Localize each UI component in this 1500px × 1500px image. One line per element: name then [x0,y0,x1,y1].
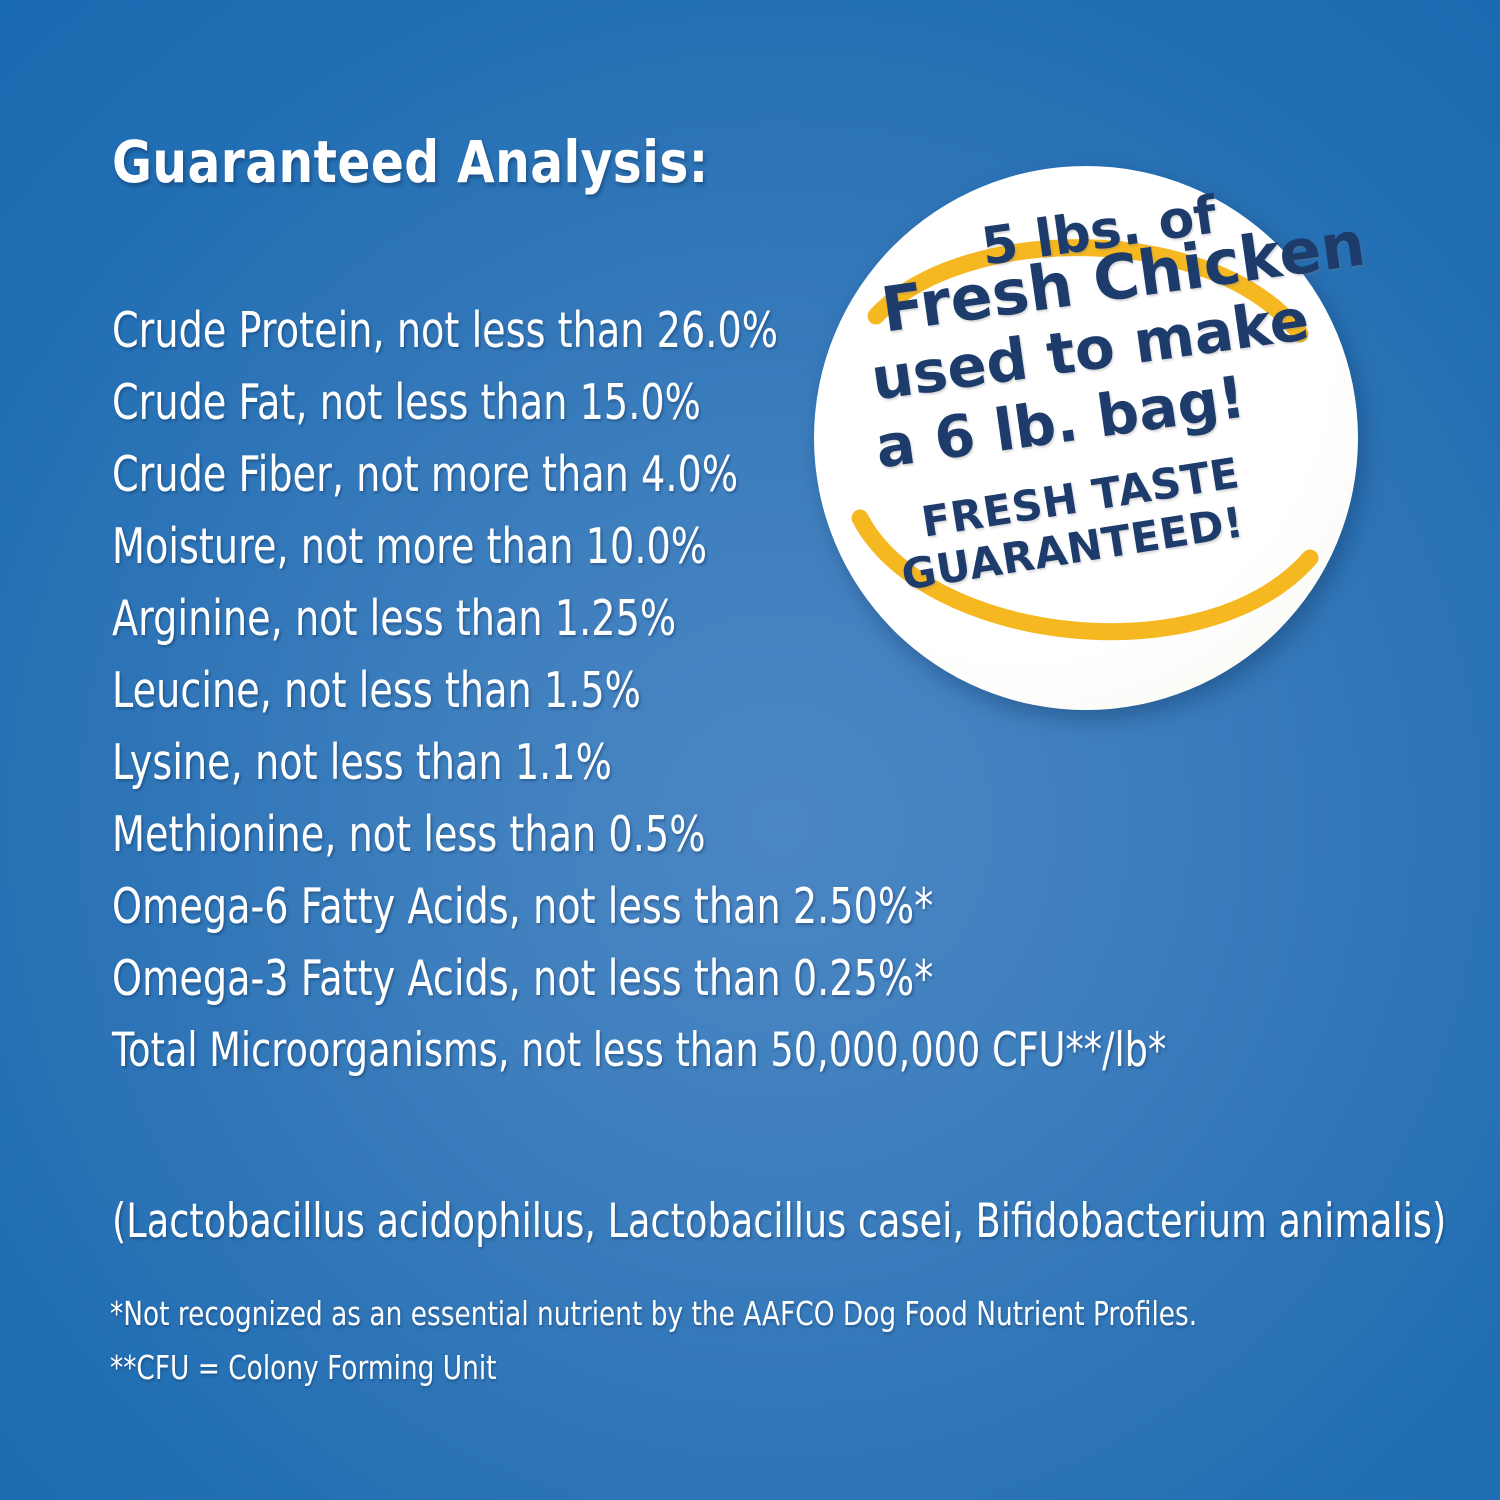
analysis-row: Total Microorganisms, not less than 50,0… [112,1015,1149,1087]
analysis-row: Omega-3 Fatty Acids, not less than 0.25%… [112,943,1149,1015]
guaranteed-analysis-panel: Guaranteed Analysis: Crude Protein, not … [0,0,1500,1500]
probiotic-strains-text: (Lactobacillus acidophilus, Lactobacillu… [112,1189,1446,1255]
footnote-cfu: **CFU = Colony Forming Unit [110,1341,1197,1395]
badge-text-block: 5 lbs. of Fresh Chicken used to make a 6… [814,166,1358,710]
page-title: Guaranteed Analysis: [112,128,709,196]
analysis-row: Lysine, not less than 1.1% [112,727,1149,799]
analysis-row: Omega-6 Fatty Acids, not less than 2.50%… [112,871,1149,943]
footnotes: *Not recognized as an essential nutrient… [110,1287,1469,1395]
fresh-chicken-badge: 5 lbs. of Fresh Chicken used to make a 6… [814,166,1358,710]
footnote-aafco: *Not recognized as an essential nutrient… [110,1287,1197,1341]
analysis-row: Methionine, not less than 0.5% [112,799,1149,871]
